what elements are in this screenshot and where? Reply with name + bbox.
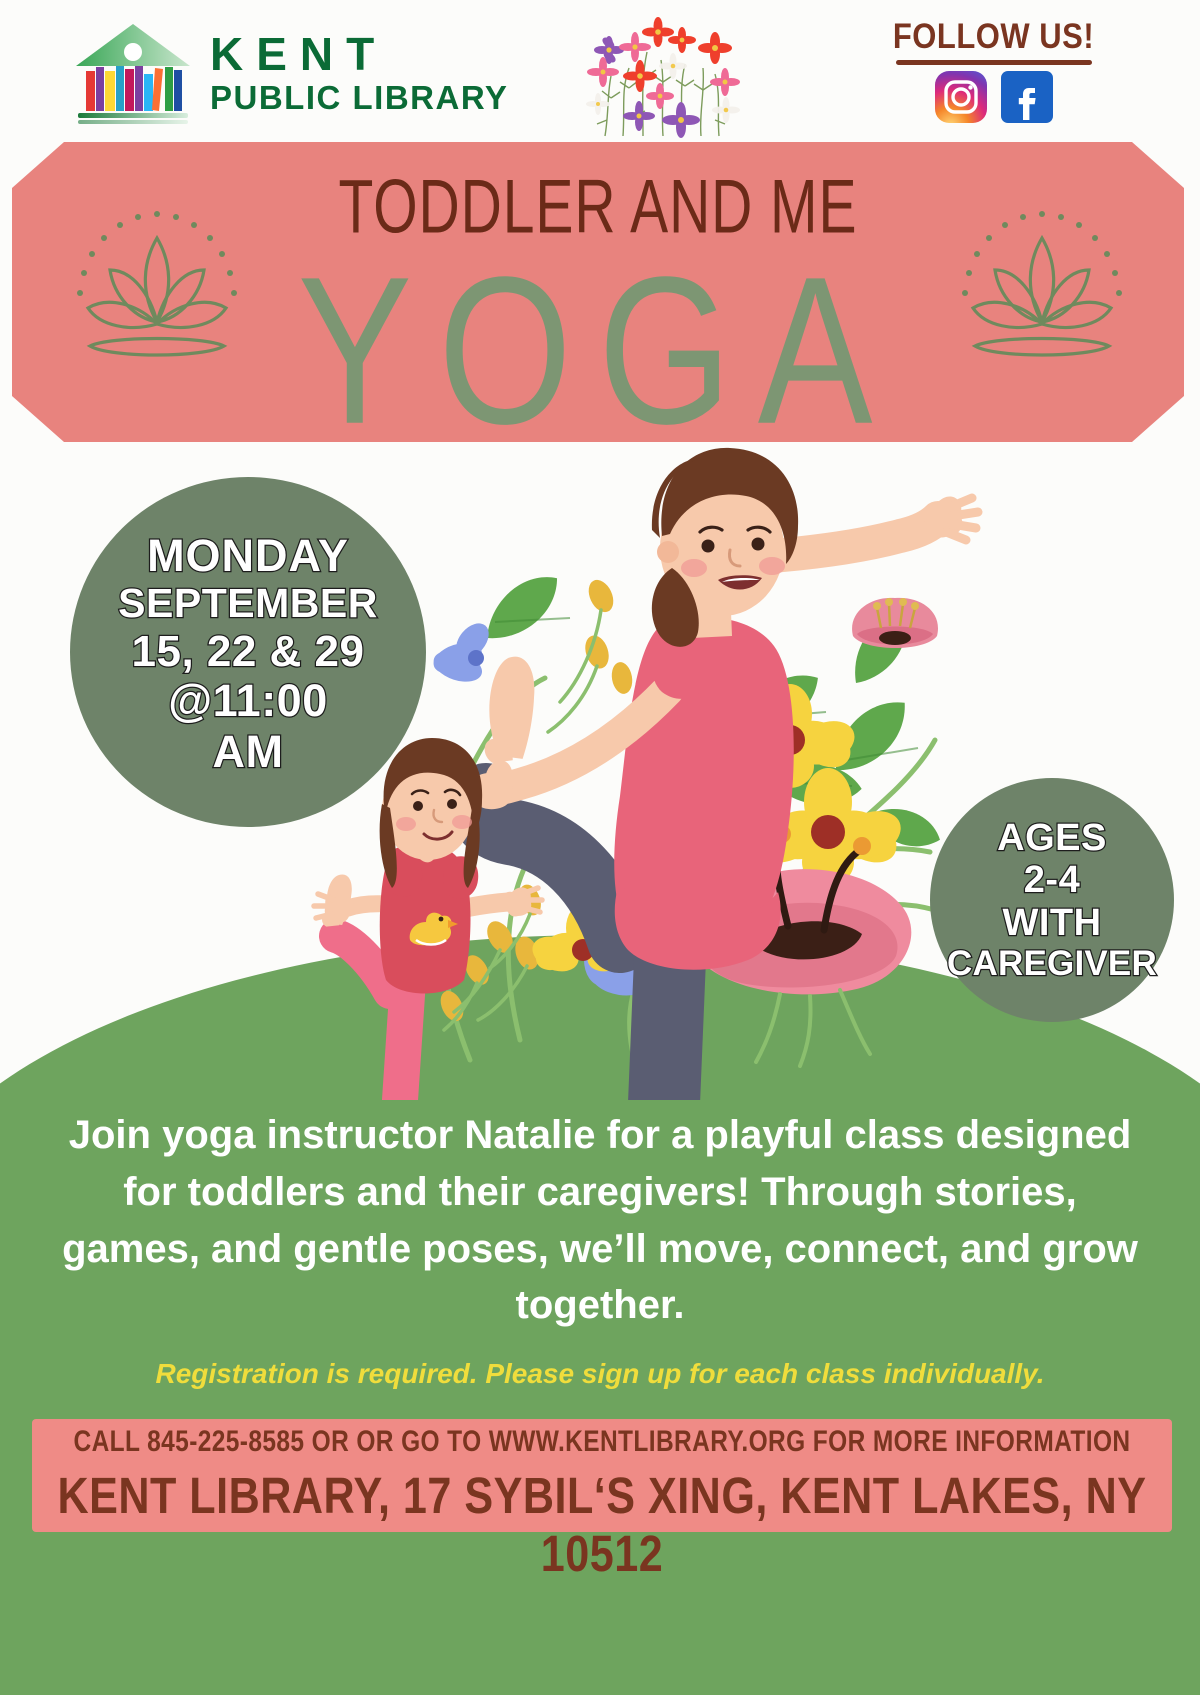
contact-bar: CALL 845-225-8585 OR OR GO TO WWW.KENTLI… xyxy=(32,1419,1172,1532)
social-icons-row xyxy=(886,71,1101,123)
date-badge: MONDAY SEPTEMBER 15, 22 & 29 @11:00 AM xyxy=(70,477,426,827)
ages-line-2: 2-4 xyxy=(1024,859,1080,902)
facebook-icon[interactable] xyxy=(1001,71,1053,123)
title-banner: TODDLER AND ME YOGA xyxy=(12,142,1184,442)
logo-name-line1: KENT xyxy=(210,31,508,77)
event-description: Join yoga instructor Natalie for a playf… xyxy=(52,1107,1148,1334)
woman-yoga-pose xyxy=(470,448,978,1100)
registration-note: Registration is required. Please sign up… xyxy=(52,1358,1148,1390)
flyer-header: KENT PUBLIC LIBRARY xyxy=(0,0,1200,140)
date-line-4: @11:00 xyxy=(168,676,328,726)
ages-line-3: WITH xyxy=(1002,902,1101,945)
lotus-flower-icon xyxy=(937,200,1147,390)
follow-us-label: FOLLOW US! xyxy=(886,16,1101,57)
wildflowers-illustration-icon xyxy=(585,16,745,138)
date-line-1: MONDAY xyxy=(147,531,349,581)
library-logo: KENT PUBLIC LIBRARY xyxy=(72,18,542,130)
date-line-5: AM xyxy=(213,727,284,777)
contact-phone-website: CALL 845-225-8585 OR OR GO TO WWW.KENTLI… xyxy=(43,1425,1160,1459)
library-building-logo-icon xyxy=(72,22,194,126)
ages-badge: AGES 2-4 WITH CAREGIVER xyxy=(930,778,1174,1022)
library-name: KENT PUBLIC LIBRARY xyxy=(210,31,508,117)
instagram-icon[interactable] xyxy=(935,71,987,123)
date-line-3: 15, 22 & 29 xyxy=(132,627,365,676)
ages-line-4: CAREGIVER xyxy=(947,944,1157,983)
logo-name-line2: PUBLIC LIBRARY xyxy=(210,79,508,117)
contact-address: KENT LIBRARY, 17 SYBIL‘S XING, KENT LAKE… xyxy=(43,1468,1160,1584)
follow-us-underline xyxy=(896,60,1092,65)
date-line-2: SEPTEMBER xyxy=(118,581,378,627)
follow-us-block: FOLLOW US! xyxy=(886,16,1101,138)
ages-line-1: AGES xyxy=(997,817,1107,860)
